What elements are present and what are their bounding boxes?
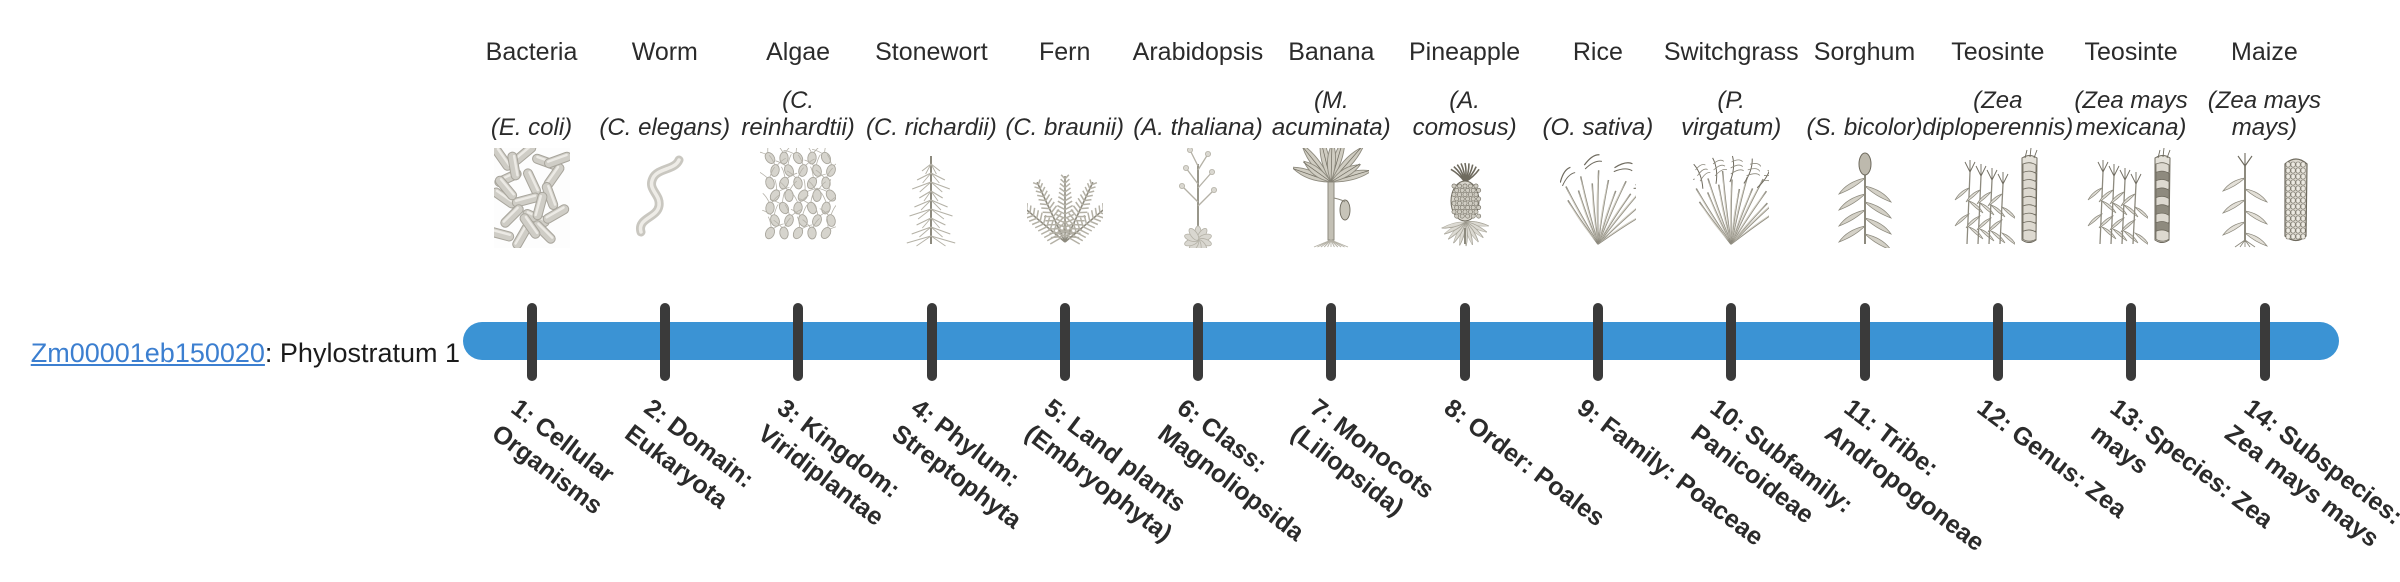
species-column: Rice(O. sativa) (1531, 0, 1664, 300)
species-column: Arabidopsis(A. thaliana) (1132, 0, 1265, 300)
species-column: Sorghum(S. bicolor) (1798, 0, 1931, 300)
species-scientific-name-line: (C. elegans) (599, 115, 730, 142)
species-scientific-name-line: (P. (1681, 88, 1781, 115)
species-common-name: Stonewort (875, 38, 988, 68)
species-scientific-name: (A.comosus) (1399, 80, 1531, 142)
species-illustration-sorghum-icon (1798, 148, 1931, 248)
species-scientific-name-line: (C. (741, 88, 854, 115)
species-scientific-name: (P.virgatum) (1665, 80, 1797, 142)
species-scientific-name: (Zea maysmays) (2198, 80, 2330, 142)
species-common-name: Arabidopsis (1133, 38, 1264, 68)
species-common-name: Sorghum (1814, 38, 1915, 68)
species-column: Teosinte(Zeadiploperennis) (1931, 0, 2064, 300)
species-common-name: Worm (632, 38, 698, 68)
species-scientific-name: (S. bicolor) (1799, 80, 1931, 142)
species-scientific-name-line: mays) (2208, 115, 2321, 142)
species-scientific-name-line: (Zea (1922, 88, 2073, 115)
species-illustration-pineapple-icon (1398, 148, 1531, 248)
species-illustration-arabidopsis-icon (1132, 148, 1265, 248)
species-illustration-teosinte-b-icon (2065, 148, 2198, 248)
species-scientific-name-line: (A. (1413, 88, 1517, 115)
species-illustration-stonewort-icon (865, 148, 998, 248)
species-scientific-name-line: (Zea mays (2074, 88, 2187, 115)
species-common-name: Banana (1288, 38, 1374, 68)
species-scientific-name: (E. coli) (466, 80, 598, 142)
species-column: Teosinte(Zea maysmexicana) (2065, 0, 2198, 300)
species-scientific-name: (Zea maysmexicana) (2065, 80, 2197, 142)
species-illustration-worm-icon (598, 148, 731, 248)
species-column: Pineapple(A.comosus) (1398, 0, 1531, 300)
phylostratum-figure: Zm00001eb150020: Phylostratum 1 Bacteria… (0, 0, 2400, 580)
species-scientific-name-line: diploperennis) (1922, 115, 2073, 142)
species-scientific-name-line: mexicana) (2074, 115, 2187, 142)
species-scientific-name: (A. thaliana) (1132, 80, 1264, 142)
species-scientific-name-line: (Zea mays (2208, 88, 2321, 115)
species-scientific-name-line: (S. bicolor) (1806, 115, 1922, 142)
species-common-name: Rice (1573, 38, 1623, 68)
species-scientific-name-line: (A. thaliana) (1133, 115, 1262, 142)
species-scientific-name-line: acuminata) (1272, 115, 1391, 142)
species-illustration-bacteria-icon (465, 148, 598, 248)
species-column: Stonewort(C. richardii) (865, 0, 998, 300)
species-column: Bacteria(E. coli) (465, 0, 598, 300)
species-illustration-fern-icon (998, 148, 1131, 248)
species-common-name: Teosinte (2085, 38, 2178, 68)
species-common-name: Switchgrass (1664, 38, 1799, 68)
species-column: Fern(C. braunii) (998, 0, 1131, 300)
species-columns: Bacteria(E. coli)Worm(C. elegans)Algae(C… (465, 0, 2335, 580)
species-scientific-name: (C. braunii) (999, 80, 1131, 142)
species-common-name: Bacteria (486, 38, 578, 68)
species-scientific-name-line: (E. coli) (491, 115, 572, 142)
species-illustration-algae-icon (732, 148, 865, 248)
species-illustration-rice-icon (1531, 148, 1664, 248)
species-scientific-name-line: virgatum) (1681, 115, 1781, 142)
species-illustration-banana-icon (1265, 148, 1398, 248)
species-scientific-name: (C. richardii) (865, 80, 997, 142)
species-scientific-name-line: (M. (1272, 88, 1391, 115)
species-scientific-name: (C.reinhardtii) (732, 80, 864, 142)
species-common-name: Teosinte (1951, 38, 2044, 68)
species-common-name: Fern (1039, 38, 1090, 68)
species-illustration-maize-icon (2198, 148, 2331, 248)
gene-accession-link[interactable]: Zm00001eb150020 (31, 338, 265, 368)
species-scientific-name-line: (O. sativa) (1543, 115, 1654, 142)
species-column: Maize(Zea maysmays) (2198, 0, 2331, 300)
species-scientific-name: (O. sativa) (1532, 80, 1664, 142)
species-scientific-name: (C. elegans) (599, 80, 731, 142)
species-illustration-switchgrass-icon (1665, 148, 1798, 248)
species-illustration-teosinte-a-icon (1931, 148, 2064, 248)
species-scientific-name-line: reinhardtii) (741, 115, 854, 142)
species-scientific-name: (M.acuminata) (1265, 80, 1397, 142)
phylostratum-text: : Phylostratum 1 (265, 338, 460, 368)
species-column: Algae(C.reinhardtii) (732, 0, 865, 300)
species-column: Switchgrass(P.virgatum) (1665, 0, 1798, 300)
species-scientific-name-line: comosus) (1413, 115, 1517, 142)
species-column: Banana(M.acuminata) (1265, 0, 1398, 300)
gene-phylostratum-label: Zm00001eb150020: Phylostratum 1 (0, 339, 460, 369)
species-common-name: Pineapple (1409, 38, 1520, 68)
species-common-name: Maize (2231, 38, 2298, 68)
species-scientific-name: (Zeadiploperennis) (1932, 80, 2064, 142)
species-scientific-name-line: (C. richardii) (866, 115, 997, 142)
species-column: Worm(C. elegans) (598, 0, 731, 300)
species-common-name: Algae (766, 38, 830, 68)
species-scientific-name-line: (C. braunii) (1005, 115, 1124, 142)
